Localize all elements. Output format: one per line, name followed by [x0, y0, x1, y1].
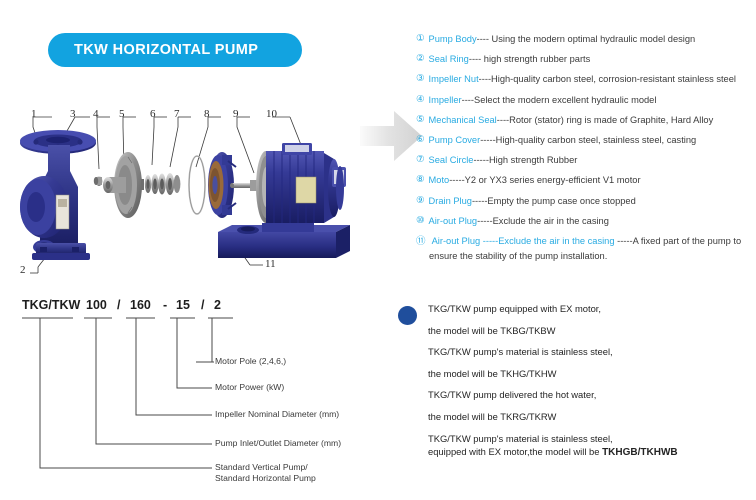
model-label-motor-power: Motor Power (kW) [215, 382, 284, 394]
part-list-item: ⑦ Seal Circle -----High strength Rubber [416, 154, 756, 166]
callout-number-10: 10 [266, 108, 277, 120]
part-list-item: ⑤ Mechanical Seal ----Rotor (stator) rin… [416, 114, 756, 126]
part-name: Impeller [429, 94, 462, 106]
part-number-icon: ⑩ [416, 215, 425, 227]
note-final-model: TKHGB/TKHWB [602, 447, 678, 458]
note-line: TKG/TKW pump delivered the hot water, [428, 389, 756, 401]
part-description: -----High strength Rubber [473, 154, 577, 166]
callout-number-6: 6 [150, 108, 156, 120]
part-number-icon: ① [416, 33, 425, 45]
note-line: TKG/TKW pump's material is stainless ste… [428, 346, 756, 358]
pump-illustration [0, 95, 400, 295]
callout-number-5: 5 [119, 108, 125, 120]
part-name: Impeller Nut [429, 73, 479, 85]
callout-number-7: 7 [174, 108, 180, 120]
part-number-icon: ⑨ [416, 195, 425, 207]
part-list-item: ⑧ Moto -----Y2 or YX3 series energy-effi… [416, 174, 756, 186]
part-description: ----Rotor (stator) ring is made of Graph… [497, 114, 713, 126]
base-plate-part [218, 223, 350, 258]
part-list-item: ⑨ Drain Plug -----Empty the pump case on… [416, 195, 756, 207]
note-line-final: equipped with EX motor,the model will be… [428, 446, 756, 459]
part-name: Air-out Plug [429, 215, 478, 227]
note-line: TKG/TKW pump equipped with EX motor, [428, 303, 756, 315]
part-list-item: ④ Impeller ----Select the modern excelle… [416, 94, 756, 106]
part-name: Drain Plug [429, 195, 472, 207]
note-line: the model will be TKRG/TKRW [428, 411, 756, 423]
part-name: Pump Cover [429, 134, 481, 146]
model-variants-notes: TKG/TKW pump equipped with EX motor, the… [398, 303, 756, 468]
callout-number-9: 9 [233, 108, 239, 120]
part-number-icon: ⑧ [416, 174, 425, 186]
model-code-leader-lines [0, 296, 400, 500]
page-title-banner: TKW HORIZONTAL PUMP [48, 33, 302, 67]
part-number-icon: ③ [416, 73, 425, 85]
callout-number-4: 4 [93, 108, 99, 120]
mechanical-seal-part [141, 173, 180, 195]
callout-number-1: 1 [31, 108, 37, 120]
part-number-icon: ④ [416, 94, 425, 106]
part-list-item: ⑩ Air-out Plug -----Exclude the air in t… [416, 215, 756, 227]
model-segment-prefix: TKG/TKW [22, 298, 80, 312]
model-label-pump-type-2: Standard Horizontal Pump [215, 473, 316, 485]
part-description: ----Select the modern excellent hydrauli… [462, 94, 657, 106]
part-name: Pump Body [429, 33, 477, 45]
model-label-motor-pole: Motor Pole (2,4,6,) [215, 356, 286, 368]
note-final-prefix: equipped with EX motor,the model will be [428, 446, 602, 457]
part-description: -----High-quality carbon steel, stainles… [480, 134, 696, 146]
model-label-pump-type-1: Standard Vertical Pump/ [215, 462, 308, 474]
model-separator-slash-2: / [201, 298, 204, 312]
model-separator-slash-1: / [117, 298, 120, 312]
part-name: Mechanical Seal [429, 114, 497, 126]
part-description: ---- high strength rubber parts [469, 53, 590, 65]
part-description: ----High-quality carbon steel, corrosion… [479, 73, 736, 85]
part-description-continuation: ensure the stability of the pump install… [429, 250, 756, 262]
model-separator-dash: - [163, 298, 167, 312]
bullet-dot-icon [398, 306, 417, 325]
part-description: -----Y2 or YX3 series energy-efficient V… [449, 174, 640, 186]
part-description: ---- Using the modern optimal hydraulic … [477, 33, 696, 45]
part-description: -----A fixed part of the pump to [617, 236, 741, 246]
callout-number-3: 3 [70, 108, 76, 120]
model-label-impeller-diam: Impeller Nominal Diameter (mm) [215, 409, 339, 421]
part-list-item: ⑪ Air-out Plug -----Exclude the air in t… [416, 235, 756, 262]
page-title: TKW HORIZONTAL PUMP [74, 42, 258, 58]
part-number-icon: ② [416, 53, 425, 65]
parts-legend-list: ① Pump Body ---- Using the modern optima… [416, 33, 756, 270]
part-name: Seal Circle [429, 154, 474, 166]
part-description: -----Empty the pump case once stopped [472, 195, 636, 207]
part-list-item: ② Seal Ring ---- high strength rubber pa… [416, 53, 756, 65]
model-segment-power: 15 [176, 298, 190, 312]
model-segment-pole: 2 [214, 298, 221, 312]
pump-body-part [20, 130, 96, 260]
callout-number-8: 8 [204, 108, 210, 120]
model-code-breakdown-diagram: TKG/TKW 100 / 160 - 15 / 2 Motor Pole (2… [0, 296, 400, 500]
impeller-nut-part [94, 176, 103, 186]
model-label-inlet-diam: Pump Inlet/Outlet Diameter (mm) [215, 438, 341, 450]
right-arrow-icon [358, 108, 424, 164]
exploded-pump-diagram: 1 3 4 5 6 7 8 9 10 2 11 [0, 95, 400, 295]
note-line: the model will be TKHG/TKHW [428, 368, 756, 380]
part-number-icon: ⑦ [416, 154, 425, 166]
part-number-icon: ⑥ [416, 134, 425, 146]
callout-number-11: 11 [265, 258, 276, 270]
part-list-item: ⑥ Pump Cover -----High-quality carbon st… [416, 134, 756, 146]
part-name: Air-out Plug -----Exclude the air in the… [432, 236, 615, 246]
part-list-item: ① Pump Body ---- Using the modern optima… [416, 33, 756, 45]
callout-number-2: 2 [20, 264, 26, 276]
note-line: TKG/TKW pump's material is stainless ste… [428, 433, 756, 445]
model-segment-inlet: 100 [86, 298, 107, 312]
note-line: the model will be TKBG/TKBW [428, 325, 756, 337]
part-number-icon: ⑪ [416, 236, 426, 247]
part-number-icon: ⑤ [416, 114, 425, 126]
impeller-part [103, 152, 142, 218]
part-name: Seal Ring [429, 53, 469, 65]
part-name: Moto [429, 174, 450, 186]
part-list-item: ③ Impeller Nut ----High-quality carbon s… [416, 73, 756, 85]
part-description: -----Exclude the air in the casing [477, 215, 609, 227]
model-segment-impeller: 160 [130, 298, 151, 312]
